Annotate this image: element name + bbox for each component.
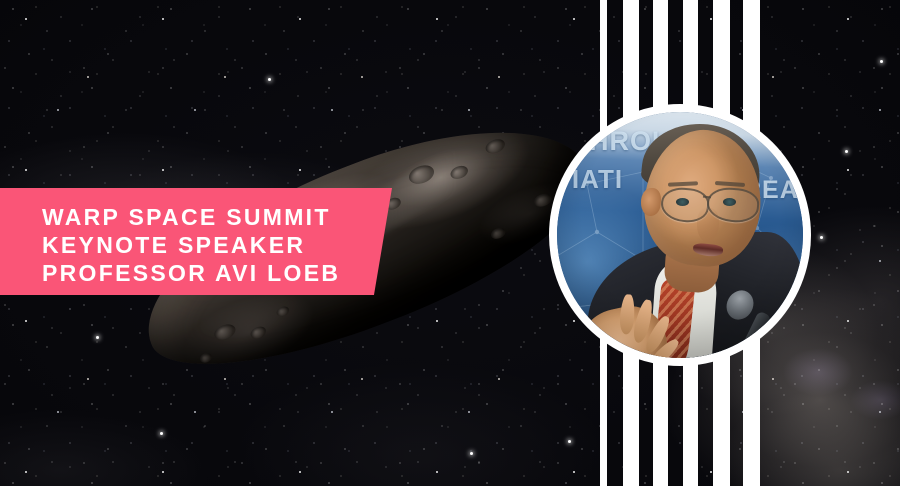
bright-star-4 (845, 150, 848, 153)
title-banner-text: Warp Space Summit Keynote Speaker Profes… (42, 203, 382, 287)
bright-star-7 (160, 432, 163, 435)
bright-star-5 (470, 452, 473, 455)
asteroid-crater (249, 325, 268, 341)
banner-line-3: Professor Avi Loeb (42, 259, 382, 287)
asteroid-crater (199, 352, 213, 365)
speaker-portrait: KTHROUGH TIATI REA (557, 112, 803, 358)
speaker-ear (641, 188, 661, 216)
poster-canvas: Warp Space Summit Keynote Speaker Profes… (0, 0, 900, 486)
bright-star-2 (96, 336, 99, 339)
bright-star-6 (820, 236, 823, 239)
asteroid-crater (212, 322, 238, 343)
backdrop-text-line-2: TIATI (557, 164, 623, 195)
asteroid-crater (275, 305, 290, 318)
speaker-thumb (576, 329, 608, 358)
asteroid-crater (532, 191, 553, 209)
bright-star-1 (568, 440, 571, 443)
banner-line-2: Keynote Speaker (42, 231, 382, 259)
banner-line-1: Warp Space Summit (42, 203, 382, 231)
bright-star-3 (268, 78, 271, 81)
bright-star-8 (880, 60, 883, 63)
asteroid-crater (489, 226, 507, 241)
